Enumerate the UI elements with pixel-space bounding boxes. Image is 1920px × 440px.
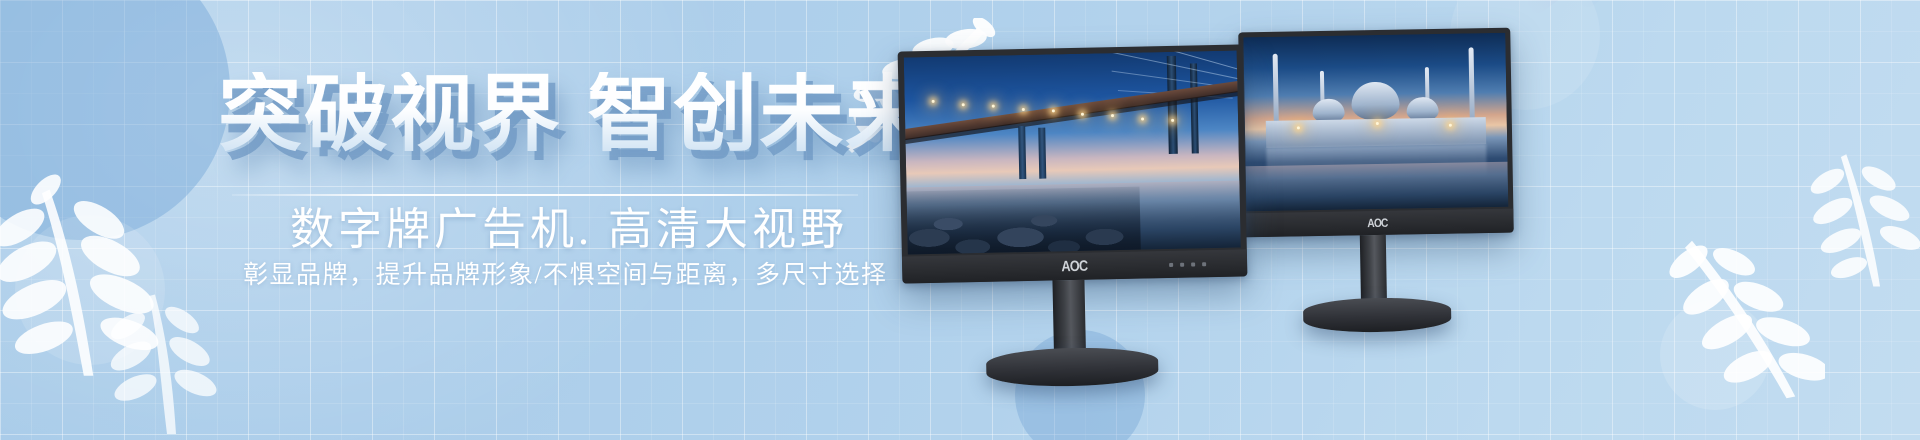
monitor-neck [1360,235,1387,307]
tagline: 彰显品牌，提升品牌形象/不惧空间与距离，多尺寸选择 [243,255,887,291]
aoc-logo: AOC [1367,216,1387,230]
leaf-sprig-icon [1795,120,1920,310]
screen-image-mosque [1243,33,1508,212]
product-monitor-secondary: AOC [1238,28,1514,238]
monitor-neck [1052,280,1086,359]
monitor-screen [904,51,1241,255]
decorative-circle-right [1660,300,1770,410]
screen-image-bridge [904,51,1241,255]
page-title: 突破视界 智创未来 [218,72,931,156]
aoc-logo: AOC [1062,258,1088,276]
monitor-chin: AOC [1241,209,1513,238]
monitor-bezel: AOC [898,44,1248,283]
monitor-indicator-ports [1169,262,1206,267]
monitor-base [1303,297,1452,334]
monitor-bezel: AOC [1238,28,1514,238]
product-monitor-primary: AOC [898,44,1248,283]
monitor-screen [1243,33,1508,212]
subtitle: 数字牌广告机. 高清大视野 [290,193,848,257]
copy-block: 突破视界 智创未来 数字牌广告机. 高清大视野 彰显品牌，提升品牌形象/不惧空间… [0,0,900,440]
ribbon-swoosh-icon [1490,0,1920,140]
monitor-chin: AOC [902,249,1247,283]
promo-banner: 突破视界 智创未来 数字牌广告机. 高清大视野 彰显品牌，提升品牌形象/不惧空间… [0,0,1920,440]
